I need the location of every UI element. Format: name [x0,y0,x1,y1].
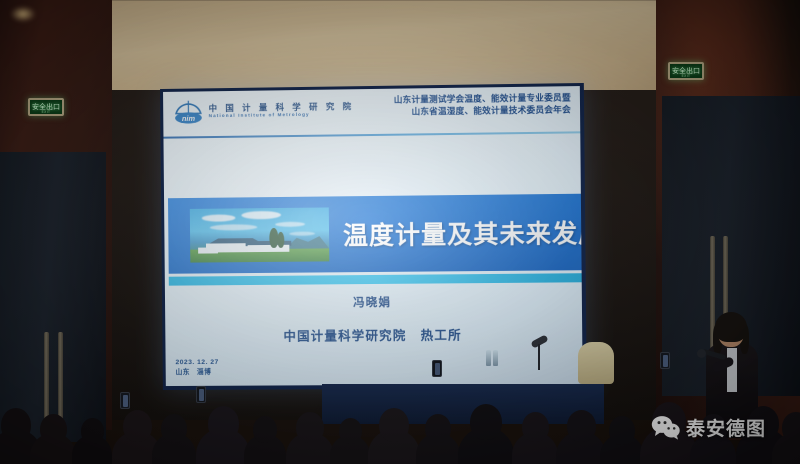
conference-room-photo: 安全出口 EXIT 安全出口 EXIT nim [0,0,800,464]
audience-head [296,412,324,443]
audience-head [1,408,31,442]
speaker-shirt [727,348,737,392]
audience-head [609,416,635,445]
nim-logo-name-en: National Institute of Metrology [209,112,355,119]
audience-head [470,404,502,440]
audience-head [40,414,67,444]
slide-footer: 2023. 12. 27 山东淄博 [175,358,219,379]
nim-arch-logo-icon: nim [173,98,204,124]
presenter-name: 冯晓娟 [165,292,582,311]
audience-head [379,408,409,442]
phone-screen [199,389,204,401]
exit-sign-icon: 安全出口 EXIT [668,62,704,80]
title-band-accent [169,273,583,285]
audience-member [600,416,644,464]
audience-phone [432,360,442,377]
audience-head [161,414,187,443]
audience-member [368,408,420,464]
exit-sign-icon: 安全出口 EXIT [28,98,64,116]
watermark-text: 泰安德图 [686,414,766,441]
audience-head [339,418,362,444]
audience-member [330,418,370,464]
presenter-block: 冯晓娟 中国计量科学研究院热工所 [165,292,582,345]
water-bottles [486,350,500,368]
svg-text:nim: nim [182,114,196,123]
microphone-head [697,349,706,358]
presentation-slide: nim 中 国 计 量 科 学 研 究 院 National Institute… [163,86,583,386]
slide-location: 山东淄博 [176,368,219,379]
slide-title-band: 温度计量及其未来发展 [168,194,583,274]
audience-member [556,410,606,464]
conference-header-line2: 山东省温湿度、能效计量技术委员会年会 [394,104,571,119]
phone-screen [663,355,668,367]
audience-head [123,410,152,442]
audience-member [30,414,76,464]
ceiling-light [10,6,36,22]
presenter-department: 热工所 [421,328,462,342]
slide-city: 淄博 [197,369,212,376]
audience-member [772,412,800,464]
microphone-stand [538,344,540,370]
phone-screen [123,395,128,407]
presenter-organization: 中国计量科学研究院热工所 [165,324,582,346]
audience-member [152,414,196,464]
wechat-icon [651,415,680,440]
audience-phone [660,352,670,369]
audience-phone [196,386,206,403]
conference-header: 山东计量测试学会温度、能效计量专业委员暨 山东省温湿度、能效计量技术委员会年会 [394,91,571,118]
exit-sign-sublabel: EXIT [670,74,702,78]
projection-screen: nim 中 国 计 量 科 学 研 究 院 National Institute… [160,83,587,390]
slide-title: 温度计量及其未来发展 [343,214,583,253]
presenter-org-name: 中国计量科学研究院 [283,329,406,344]
audience-member [512,412,558,464]
audience-member [286,412,334,464]
speaker-hair [715,312,747,342]
audience-member [196,406,250,464]
audience-member [458,404,514,464]
audience-head [208,406,239,441]
audience-member [72,418,112,464]
chair-back [578,342,614,384]
slide-date: 2023. 12. 27 [175,358,218,369]
upper-wall [108,0,668,96]
audience-head [425,414,451,443]
header-divider [163,131,580,138]
audience-phone [120,392,130,409]
audience-member [244,416,286,464]
phone-screen [435,363,440,375]
exit-sign-sublabel: EXIT [30,110,62,114]
left-door [0,152,106,442]
audience-head [567,410,596,442]
slide-province: 山东 [176,369,190,376]
audience-head [253,416,277,443]
audience-head [782,412,800,443]
nim-building-photo [190,207,329,262]
watermark: 泰安德图 [651,414,766,441]
audience-head [81,418,104,444]
audience-member [416,414,460,464]
slide-header: nim 中 国 计 量 科 学 研 究 院 National Institute… [163,86,580,138]
nim-logo: nim 中 国 计 量 科 学 研 究 院 National Institute… [173,96,354,124]
audience-head [522,412,549,442]
